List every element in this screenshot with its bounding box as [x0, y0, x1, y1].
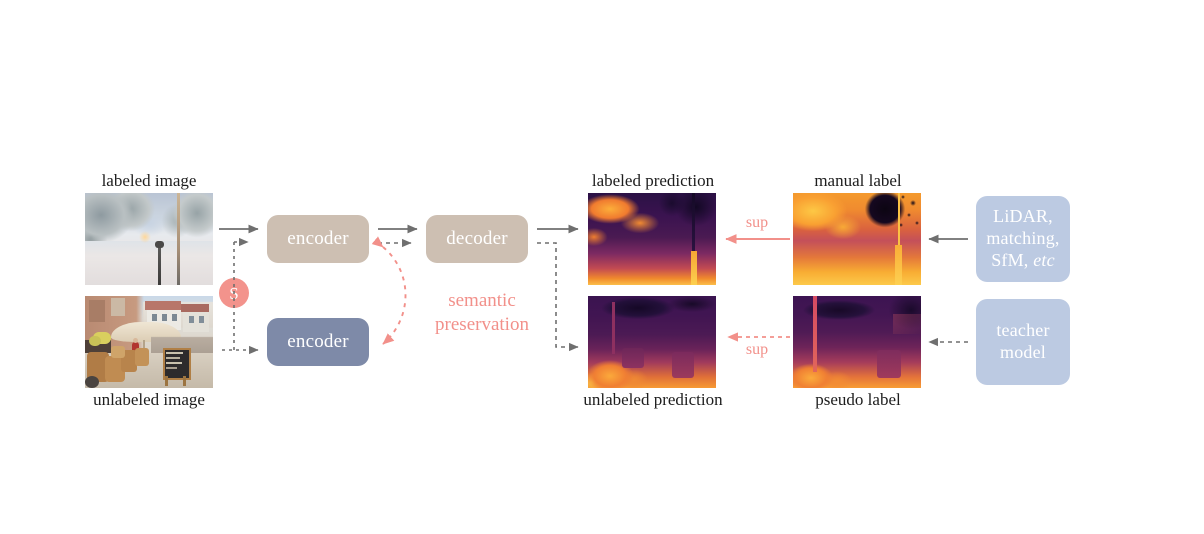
arrow-encoders-to-decoder — [378, 229, 417, 243]
decoder-box[interactable]: decoder — [426, 215, 528, 263]
encoder-unlabeled-label: encoder — [287, 330, 349, 353]
semantic-preservation-label: semantic preservation — [396, 289, 568, 337]
caption-unlabeled-prediction: unlabeled prediction — [568, 391, 738, 408]
decoder-label: decoder — [446, 227, 508, 250]
caption-unlabeled-image: unlabeled image — [85, 391, 213, 408]
depth-source-box[interactable]: LiDAR, matching, SfM, etc — [976, 196, 1070, 282]
depth-source-sfm: SfM, — [991, 250, 1028, 270]
depth-source-line-3: SfM, etc — [991, 250, 1055, 272]
caption-manual-label: manual label — [778, 172, 938, 189]
encoder-unlabeled-box[interactable]: encoder — [267, 318, 369, 366]
teacher-model-box[interactable]: teacher model — [976, 299, 1070, 385]
sup-label-top: sup — [728, 213, 786, 233]
pseudo-label-image — [793, 296, 921, 388]
manual-label-image — [793, 193, 921, 285]
teacher-model-line-1: teacher — [996, 320, 1049, 342]
encoder-labeled-box[interactable]: encoder — [267, 215, 369, 263]
encoder-labeled-label: encoder — [287, 227, 349, 250]
sup-label-bottom: sup — [728, 340, 786, 360]
semantic-preservation-line-2: preservation — [396, 313, 568, 337]
caption-pseudo-label: pseudo label — [778, 391, 938, 408]
labeled-prediction-image — [588, 193, 716, 285]
unlabeled-image — [85, 296, 213, 388]
labeled-image — [85, 193, 213, 285]
depth-source-line-2: matching, — [986, 228, 1059, 250]
figure-canvas: labeled image unlabeled image labeled pr… — [0, 0, 1204, 534]
depth-source-etc: etc — [1033, 250, 1055, 270]
strong-augmentation-badge[interactable]: S — [219, 278, 249, 308]
semantic-preservation-line-1: semantic — [396, 289, 568, 313]
unlabeled-prediction-image — [588, 296, 716, 388]
depth-source-line-1: LiDAR, — [993, 206, 1053, 228]
teacher-model-line-2: model — [1000, 342, 1046, 364]
caption-labeled-prediction: labeled prediction — [568, 172, 738, 189]
caption-labeled-image: labeled image — [85, 172, 213, 189]
strong-augmentation-label: S — [229, 285, 238, 302]
